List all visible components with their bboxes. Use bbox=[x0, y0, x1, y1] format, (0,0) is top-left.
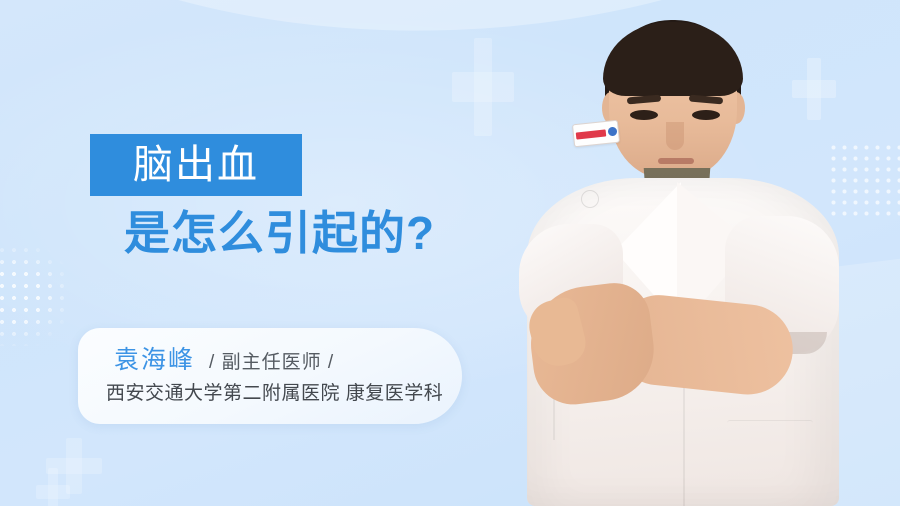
doctor-professional-title: / 副主任医师 / bbox=[209, 347, 334, 374]
doctor-portrait-image bbox=[497, 0, 857, 506]
portrait-eye-right bbox=[692, 110, 720, 120]
arc-bottom-right-decoration bbox=[552, 248, 900, 506]
portrait-eyebrow-right bbox=[689, 95, 723, 105]
portrait-sleeve-cuff-right bbox=[731, 332, 827, 354]
portrait-face bbox=[609, 28, 737, 178]
portrait-ear-left bbox=[602, 92, 620, 124]
portrait-neck-shadow bbox=[645, 120, 707, 154]
hospital-id-badge-icon bbox=[572, 120, 620, 148]
portrait-inner-shirt bbox=[625, 168, 729, 286]
portrait-mouth bbox=[658, 158, 694, 164]
portrait-hair-top bbox=[603, 22, 743, 96]
portrait-coat-seam bbox=[683, 320, 685, 506]
portrait-shirt-button bbox=[673, 208, 682, 217]
portrait-coat-pocket-left bbox=[553, 396, 555, 440]
portrait-forearm-right bbox=[613, 291, 797, 399]
hospital-id-badge-emblem bbox=[608, 127, 618, 137]
doctor-affiliation: 西安交通大学第二附属医院 康复医学科 bbox=[106, 378, 443, 405]
hospital-id-badge-strip bbox=[576, 129, 607, 139]
page-title-question: 是怎么引起的? bbox=[124, 206, 435, 261]
portrait-hair-back bbox=[605, 20, 741, 140]
portrait-sleeve-left bbox=[519, 224, 623, 336]
topic-badge: 脑出血 bbox=[90, 134, 302, 196]
portrait-sleeve-right bbox=[725, 216, 839, 354]
portrait-coat-lapel-left bbox=[615, 182, 681, 332]
doctor-name-row: 袁海峰 / 副主任医师 / bbox=[114, 340, 334, 376]
portrait-nose bbox=[666, 122, 684, 150]
portrait-coat-pocket-right bbox=[727, 420, 813, 461]
portrait-group bbox=[497, 0, 857, 506]
portrait-eyebrow-left bbox=[627, 95, 661, 105]
portrait-hair-fringe bbox=[609, 56, 737, 82]
portrait-coat-lapel-right bbox=[677, 182, 753, 338]
portrait-ear-right bbox=[727, 92, 745, 124]
portrait-neck bbox=[645, 120, 707, 192]
portrait-coat-clip bbox=[581, 190, 599, 208]
medical-cross-icon bbox=[792, 58, 836, 120]
portrait-hand bbox=[524, 295, 590, 372]
portrait-forearm-left bbox=[524, 279, 659, 409]
thumbnail-canvas: 脑出血 是怎么引起的? 袁海峰 / 副主任医师 / 西安交通大学第二附属医院 康… bbox=[0, 0, 900, 506]
topic-badge-label: 脑出血 bbox=[133, 145, 259, 185]
portrait-shirt-stripe bbox=[639, 230, 713, 241]
text-content-area: 脑出血 是怎么引起的? 袁海峰 / 副主任医师 / 西安交通大学第二附属医院 康… bbox=[0, 0, 520, 506]
portrait-white-coat bbox=[527, 178, 839, 506]
portrait-eye-left bbox=[630, 110, 658, 120]
portrait-shirt-stripe bbox=[641, 256, 711, 267]
dot-grid-decoration bbox=[828, 142, 900, 222]
doctor-info-card: 袁海峰 / 副主任医师 / 西安交通大学第二附属医院 康复医学科 bbox=[78, 328, 462, 424]
doctor-name: 袁海峰 bbox=[114, 340, 195, 376]
